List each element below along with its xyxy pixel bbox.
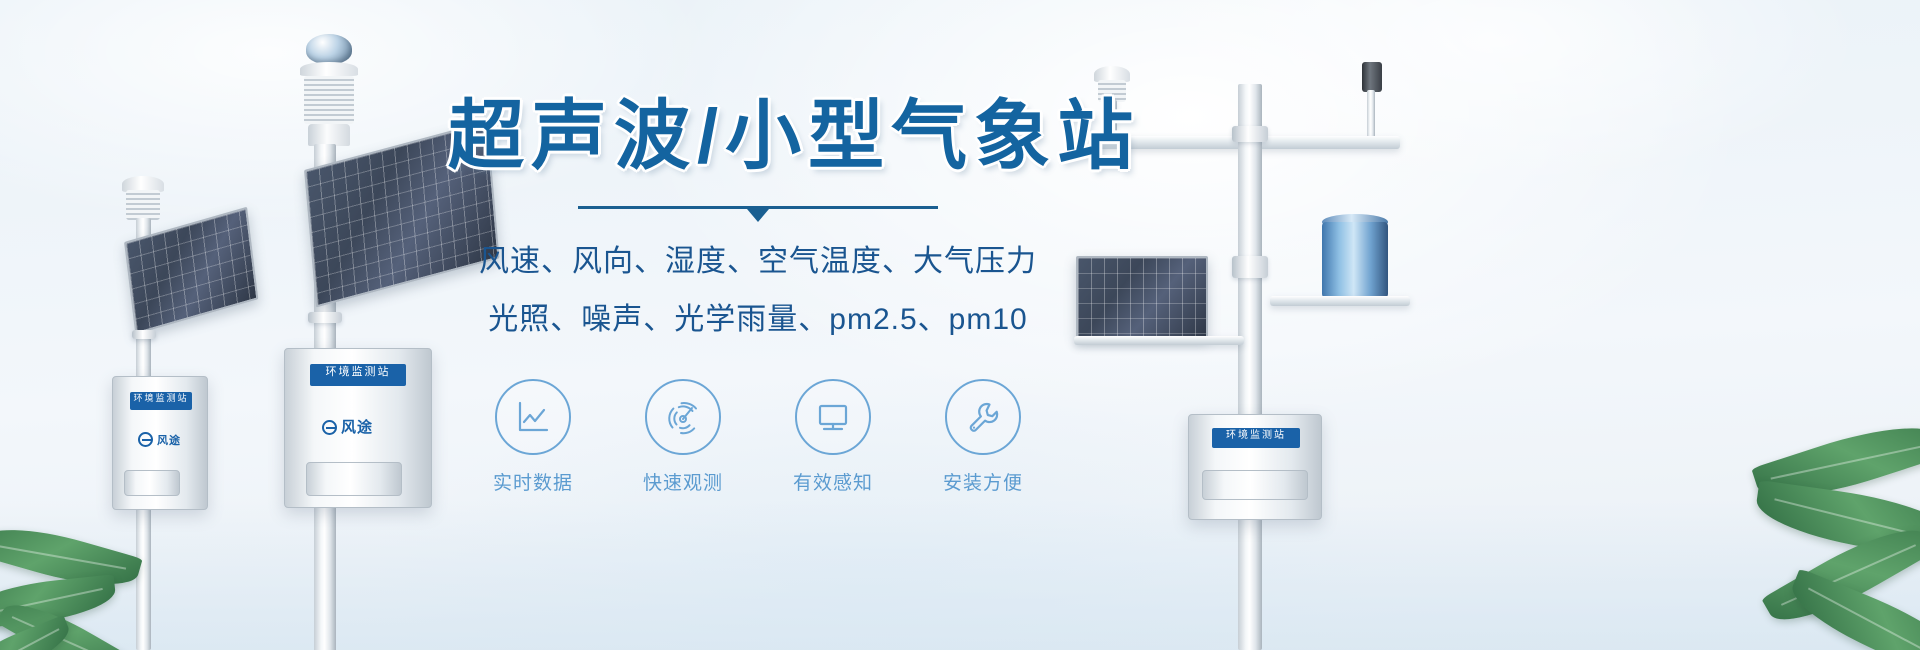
sensor-body [308,124,350,146]
cabinet-vent [1202,470,1308,500]
solar-panel-shelf [1074,336,1244,345]
brand-text: 风途 [157,435,181,447]
foliage-right [1650,410,1920,650]
chevron-down-icon [747,209,769,222]
feature-label: 实时数据 [477,468,589,495]
rain-gauge-body [1322,222,1388,298]
brand-text: 风途 [341,419,373,436]
mast-collar-top [1232,126,1268,142]
banner-content: 超声波/小型气象站 风速、风向、湿度、空气温度、大气压力 光照、噪声、光学雨量、… [448,96,1068,495]
feature-item-realtime-data[interactable]: 实时数据 [477,379,589,495]
cabinet-badge: 环境监测站 [130,392,192,410]
line-chart-icon [495,379,571,455]
solar-panel [1076,256,1208,338]
feature-label: 快速观测 [627,468,739,495]
monitor-screen-icon [795,379,871,455]
panel-bracket [308,312,342,323]
feature-label: 安装方便 [927,468,1039,495]
feature-list: 实时数据 快速观测 [448,379,1068,495]
brand-glyph-icon [322,420,337,435]
cabinet-badge: 环境监测站 [310,364,406,386]
wrench-tool-icon [945,379,1021,455]
sky-dome-sensor [306,34,352,64]
mast-collar-mid [1232,256,1268,278]
foliage-left [0,450,230,650]
sensor-cap [300,62,358,76]
rain-gauge-shelf [1270,296,1410,306]
feature-item-easy-install[interactable]: 安装方便 [927,379,1039,495]
feature-label: 有效感知 [777,468,889,495]
mast-pole [1238,84,1262,650]
brand-glyph-icon [138,432,153,447]
radiation-shield-louvers [304,76,354,124]
divider [578,206,938,228]
radar-signal-icon [645,379,721,455]
brand-logo: 风途 [138,432,181,448]
brand-logo: 风途 [322,416,373,437]
page-title: 超声波/小型气象站 [448,96,1068,178]
feature-item-fast-observation[interactable]: 快速观测 [627,379,739,495]
feature-item-effective-sensing[interactable]: 有效感知 [777,379,889,495]
radiation-shield-louvers [126,190,160,220]
panel-bracket [132,330,156,339]
cabinet-badge: 环境监测站 [1212,428,1300,448]
product-banner: 环境监测站 风途 环境监测站 风途 [0,0,1920,650]
cabinet-vent [306,462,402,496]
subtitle-line-1: 风速、风向、湿度、空气温度、大气压力 [448,234,1068,290]
subtitle-line-2: 光照、噪声、光学雨量、pm2.5、pm10 [448,292,1068,348]
optical-rain-sensor [1362,62,1382,92]
